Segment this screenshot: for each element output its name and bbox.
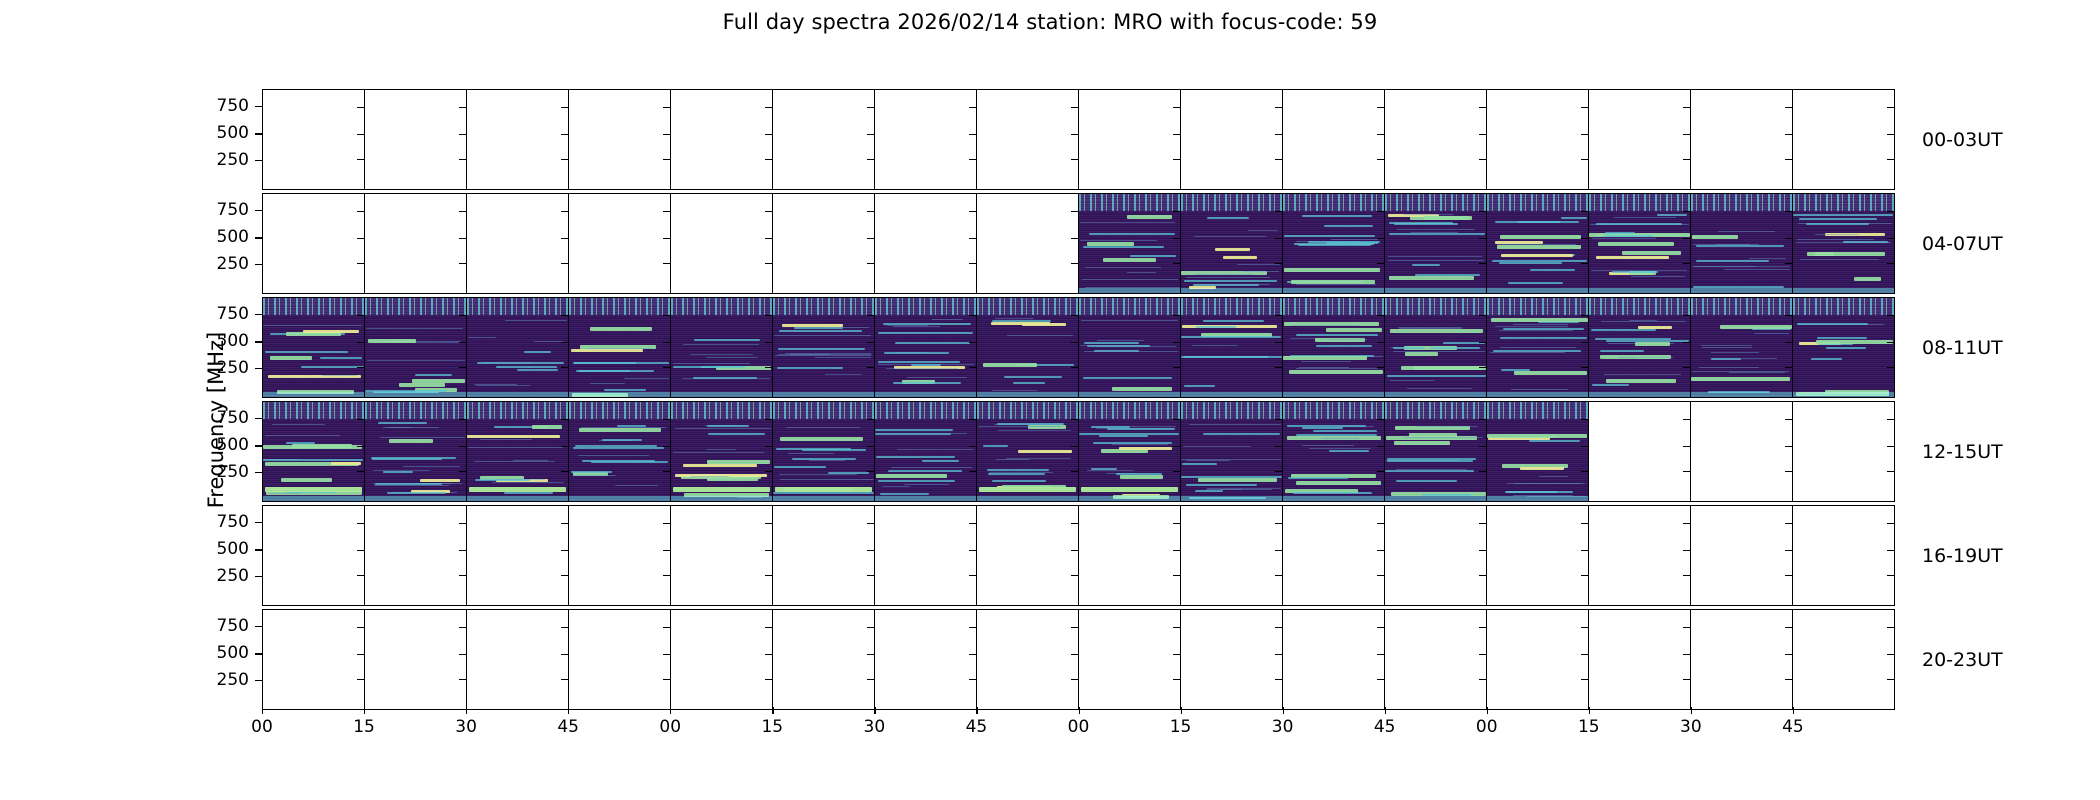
y-axis-tick xyxy=(1173,575,1180,576)
spectrogram-panel[interactable] xyxy=(875,194,977,293)
y-axis-tick xyxy=(1683,575,1690,576)
y-axis-tick xyxy=(969,550,976,551)
x-axis-tick xyxy=(1589,707,1590,714)
x-axis-tick-label: 30 xyxy=(455,717,477,737)
y-axis-tick xyxy=(1683,211,1690,212)
y-axis-tick xyxy=(1377,159,1384,160)
y-axis-tick xyxy=(1785,211,1792,212)
y-axis-tick xyxy=(1581,419,1588,420)
x-axis-tick-label: 00 xyxy=(1476,717,1498,737)
spectrogram-panel[interactable] xyxy=(569,402,671,501)
y-axis-tick xyxy=(663,159,670,160)
y-axis-tick xyxy=(1683,654,1690,655)
spectrogram-image xyxy=(1181,194,1282,293)
spectrogram-panel[interactable] xyxy=(977,402,1079,501)
y-axis-tick xyxy=(1785,134,1792,135)
y-axis-tick-labels: 750500250 xyxy=(194,505,249,606)
y-axis-tick xyxy=(459,263,466,264)
spectrogram-panel[interactable] xyxy=(1385,194,1487,293)
spectrogram-panel[interactable] xyxy=(1487,506,1589,605)
spectrogram-panel[interactable] xyxy=(467,402,569,501)
y-axis-tick xyxy=(1173,679,1180,680)
y-axis-tick xyxy=(1275,134,1282,135)
spectrogram-panel[interactable] xyxy=(1691,298,1793,397)
y-axis-tick xyxy=(663,263,670,264)
spectrogram-panel[interactable] xyxy=(671,402,773,501)
y-axis-tick xyxy=(255,264,262,265)
spectrogram-panel[interactable] xyxy=(1589,298,1691,397)
y-axis-tick xyxy=(1071,471,1078,472)
spectrogram-panel[interactable] xyxy=(467,298,569,397)
spectrogram-image xyxy=(1487,402,1588,501)
spectrogram-panel[interactable] xyxy=(1487,90,1589,189)
y-axis-tick xyxy=(255,472,262,473)
spectrogram-panel[interactable] xyxy=(569,610,671,709)
spectrogram-panel[interactable] xyxy=(467,506,569,605)
y-axis-tick xyxy=(1173,211,1180,212)
spectrogram-panel[interactable] xyxy=(1079,298,1181,397)
y-axis-tick xyxy=(1275,159,1282,160)
spectrogram-panel[interactable] xyxy=(1793,506,1894,605)
y-axis-tick-label: 500 xyxy=(217,123,249,143)
y-axis-tick xyxy=(1581,367,1588,368)
y-axis-tick xyxy=(765,263,772,264)
spectrogram-image xyxy=(1691,298,1792,397)
spectrogram-panel[interactable] xyxy=(1691,402,1793,501)
y-axis-tick xyxy=(663,575,670,576)
y-axis-tick xyxy=(459,627,466,628)
y-axis-tick xyxy=(765,342,772,343)
y-axis-tick xyxy=(867,211,874,212)
y-axis-tick xyxy=(867,134,874,135)
spectrogram-panel[interactable] xyxy=(1181,298,1283,397)
y-axis-tick xyxy=(867,419,874,420)
x-axis-tick xyxy=(1793,707,1794,714)
y-axis-tick xyxy=(1683,159,1690,160)
y-axis-tick xyxy=(1479,471,1486,472)
row-axes-frame xyxy=(262,505,1895,606)
spectrogram-panel[interactable] xyxy=(1385,506,1487,605)
y-axis-tick xyxy=(1785,471,1792,472)
spectrogram-panel[interactable] xyxy=(1079,194,1181,293)
y-axis-tick xyxy=(255,418,262,419)
spectrogram-panel[interactable] xyxy=(467,194,569,293)
y-axis-tick xyxy=(561,523,568,524)
y-axis-tick xyxy=(1275,523,1282,524)
y-axis-tick xyxy=(1683,263,1690,264)
y-axis-tick xyxy=(1887,471,1894,472)
y-axis-tick xyxy=(561,654,568,655)
spectrogram-panel[interactable] xyxy=(1181,90,1283,189)
y-axis-tick xyxy=(1173,107,1180,108)
spectrogram-image xyxy=(875,298,976,397)
x-axis-tick xyxy=(1283,707,1284,714)
y-axis-tick xyxy=(867,523,874,524)
spectrogram-panel[interactable] xyxy=(1589,402,1691,501)
spectrogram-panel[interactable] xyxy=(1793,610,1894,709)
y-axis-tick xyxy=(255,237,262,238)
spectrogram-panel[interactable] xyxy=(977,610,1079,709)
spectrogram-panel[interactable] xyxy=(773,506,875,605)
spectrogram-row xyxy=(262,89,1895,190)
y-axis-tick xyxy=(1785,367,1792,368)
y-axis-tick xyxy=(1071,211,1078,212)
y-axis-tick xyxy=(1887,159,1894,160)
x-axis-tick xyxy=(1385,707,1386,714)
spectrogram-panel[interactable] xyxy=(671,506,773,605)
y-axis-tick-label: 500 xyxy=(217,331,249,351)
y-axis-tick xyxy=(1683,315,1690,316)
y-axis-tick xyxy=(357,367,364,368)
y-axis-tick xyxy=(867,238,874,239)
y-axis-tick xyxy=(663,134,670,135)
y-axis-tick xyxy=(1071,159,1078,160)
spectrogram-panel[interactable] xyxy=(1079,506,1181,605)
spectrogram-panel[interactable] xyxy=(1793,90,1894,189)
y-axis-tick xyxy=(1377,238,1384,239)
y-axis-tick xyxy=(1479,419,1486,420)
spectrogram-panel[interactable] xyxy=(1181,194,1283,293)
y-axis-tick xyxy=(1479,550,1486,551)
spectrogram-panel[interactable] xyxy=(1283,90,1385,189)
y-axis-tick xyxy=(1173,471,1180,472)
spectrogram-panel[interactable] xyxy=(365,610,467,709)
row-axes-frame xyxy=(262,297,1895,398)
spectrogram-image xyxy=(365,402,466,501)
y-axis-tick xyxy=(561,471,568,472)
y-axis-tick xyxy=(459,523,466,524)
spectrogram-panel[interactable] xyxy=(263,402,365,501)
spectrogram-panel[interactable] xyxy=(467,610,569,709)
spectrogram-panel[interactable] xyxy=(569,90,671,189)
spectrogram-panel[interactable] xyxy=(569,298,671,397)
y-axis-tick xyxy=(1377,550,1384,551)
y-axis-tick xyxy=(867,367,874,368)
spectrogram-panel[interactable] xyxy=(671,90,773,189)
spectrogram-panel[interactable] xyxy=(1691,194,1793,293)
y-axis-tick xyxy=(357,446,364,447)
y-axis-tick xyxy=(1785,679,1792,680)
x-axis-tick xyxy=(1181,707,1182,714)
y-axis-tick xyxy=(255,368,262,369)
spectrogram-panel[interactable] xyxy=(977,506,1079,605)
y-axis-tick xyxy=(561,107,568,108)
spectrogram-panel[interactable] xyxy=(1589,90,1691,189)
spectrogram-image xyxy=(1691,194,1792,293)
y-axis-tick xyxy=(765,550,772,551)
y-axis-tick xyxy=(663,238,670,239)
y-axis-tick xyxy=(1479,211,1486,212)
y-axis-tick xyxy=(357,575,364,576)
spectrogram-panel[interactable] xyxy=(671,610,773,709)
spectrogram-panel[interactable] xyxy=(875,610,977,709)
y-axis-tick xyxy=(1581,159,1588,160)
y-axis-tick xyxy=(1581,446,1588,447)
y-axis-tick xyxy=(561,575,568,576)
y-axis-tick xyxy=(357,679,364,680)
spectrogram-panel[interactable] xyxy=(671,298,773,397)
y-axis-tick xyxy=(357,263,364,264)
y-axis-tick xyxy=(561,159,568,160)
y-axis-tick xyxy=(1683,627,1690,628)
y-axis-tick xyxy=(1071,523,1078,524)
spectrogram-panel[interactable] xyxy=(773,610,875,709)
y-axis-tick xyxy=(765,419,772,420)
spectrogram-image xyxy=(977,298,1078,397)
y-axis-tick xyxy=(1071,679,1078,680)
y-axis-tick xyxy=(1683,238,1690,239)
y-axis-tick xyxy=(1479,263,1486,264)
y-axis-tick xyxy=(1479,134,1486,135)
y-axis-tick xyxy=(969,679,976,680)
x-axis-tick xyxy=(568,707,569,714)
y-axis-tick xyxy=(1377,342,1384,343)
y-axis-tick xyxy=(1581,315,1588,316)
spectrogram-panel[interactable] xyxy=(671,194,773,293)
spectrogram-panel[interactable] xyxy=(875,298,977,397)
spectrogram-image xyxy=(1079,298,1180,397)
spectrogram-image xyxy=(467,298,568,397)
spectrogram-panel[interactable] xyxy=(1283,402,1385,501)
spectrogram-panel[interactable] xyxy=(467,90,569,189)
y-axis-tick xyxy=(1887,367,1894,368)
spectrogram-panel[interactable] xyxy=(1793,298,1894,397)
x-axis-tick xyxy=(1487,707,1488,714)
y-axis-tick xyxy=(867,679,874,680)
y-axis-tick xyxy=(561,211,568,212)
spectrogram-panel[interactable] xyxy=(1793,194,1894,293)
y-axis-tick xyxy=(1071,342,1078,343)
spectrogram-panel[interactable] xyxy=(875,402,977,501)
row-axes-frame xyxy=(262,193,1895,294)
y-axis-tick xyxy=(1887,342,1894,343)
spectrogram-panel[interactable] xyxy=(1181,402,1283,501)
y-axis-tick xyxy=(561,446,568,447)
spectrogram-panel[interactable] xyxy=(1589,506,1691,605)
y-axis-tick xyxy=(765,211,772,212)
y-axis-tick-label: 500 xyxy=(217,539,249,559)
y-axis-tick xyxy=(357,627,364,628)
spectrogram-panel[interactable] xyxy=(263,194,365,293)
y-axis-tick xyxy=(1377,134,1384,135)
spectrogram-panel[interactable] xyxy=(1079,90,1181,189)
y-axis-tick xyxy=(1377,315,1384,316)
spectrogram-panel[interactable] xyxy=(977,298,1079,397)
y-axis-tick xyxy=(459,679,466,680)
y-axis-tick xyxy=(1377,471,1384,472)
spectrogram-panel[interactable] xyxy=(263,610,365,709)
y-axis-tick xyxy=(1479,523,1486,524)
y-axis-tick xyxy=(561,627,568,628)
y-axis-tick xyxy=(1887,627,1894,628)
spectrogram-panel[interactable] xyxy=(1283,610,1385,709)
y-axis-tick xyxy=(1071,575,1078,576)
spectrogram-panel[interactable] xyxy=(1385,402,1487,501)
spectrogram-panel[interactable] xyxy=(365,90,467,189)
y-axis-tick-label: 500 xyxy=(217,435,249,455)
spectrogram-row xyxy=(262,609,1895,710)
y-axis-tick xyxy=(1173,446,1180,447)
spectrogram-panel[interactable] xyxy=(365,194,467,293)
y-axis-tick-label: 750 xyxy=(217,304,249,324)
spectrogram-panel[interactable] xyxy=(365,402,467,501)
spectrogram-panel[interactable] xyxy=(569,506,671,605)
spectrogram-panel[interactable] xyxy=(1181,506,1283,605)
spectrogram-panel[interactable] xyxy=(1079,402,1181,501)
y-axis-tick xyxy=(1173,159,1180,160)
y-axis-tick xyxy=(1683,419,1690,420)
y-axis-tick xyxy=(561,238,568,239)
y-axis-tick xyxy=(1479,654,1486,655)
y-axis-tick xyxy=(1479,107,1486,108)
y-axis-tick xyxy=(561,367,568,368)
y-axis-tick xyxy=(1071,446,1078,447)
spectrogram-panel[interactable] xyxy=(263,90,365,189)
spectrogram-panel[interactable] xyxy=(1181,610,1283,709)
spectrogram-panel[interactable] xyxy=(1793,402,1894,501)
y-axis-tick xyxy=(1785,107,1792,108)
y-axis-tick xyxy=(1173,315,1180,316)
y-axis-tick xyxy=(1887,211,1894,212)
y-axis-tick xyxy=(1173,419,1180,420)
y-axis-tick xyxy=(357,550,364,551)
row-label-04-07ut: 04-07UT xyxy=(1922,233,2003,255)
y-axis-tick xyxy=(1479,446,1486,447)
spectrogram-panel[interactable] xyxy=(773,298,875,397)
y-axis-tick xyxy=(459,159,466,160)
y-axis-tick xyxy=(255,445,262,446)
spectrogram-panel[interactable] xyxy=(365,506,467,605)
y-axis-tick xyxy=(663,654,670,655)
spectrogram-image xyxy=(263,402,364,501)
y-axis-tick xyxy=(1275,575,1282,576)
spectrogram-image xyxy=(977,402,1078,501)
y-axis-tick xyxy=(357,471,364,472)
x-axis-tick xyxy=(874,707,875,714)
y-axis-tick xyxy=(1785,523,1792,524)
y-axis-tick xyxy=(765,654,772,655)
y-axis-tick xyxy=(1887,575,1894,576)
x-axis-tick-label: 45 xyxy=(966,717,988,737)
spectrogram-panel[interactable] xyxy=(1589,610,1691,709)
spectrogram-panel[interactable] xyxy=(977,90,1079,189)
spectrogram-panel[interactable] xyxy=(1691,506,1793,605)
spectrogram-panel[interactable] xyxy=(1283,506,1385,605)
y-axis-tick xyxy=(1275,471,1282,472)
spectrogram-image xyxy=(1181,402,1282,501)
row-label-20-23ut: 20-23UT xyxy=(1922,649,2003,671)
y-axis-tick xyxy=(1581,107,1588,108)
y-axis-tick-label: 250 xyxy=(217,358,249,378)
x-axis-tick-label: 15 xyxy=(353,717,375,737)
y-axis-tick xyxy=(1887,315,1894,316)
y-axis-tick xyxy=(1071,419,1078,420)
y-axis-tick xyxy=(1683,679,1690,680)
y-axis-tick xyxy=(969,654,976,655)
y-axis-tick xyxy=(1581,523,1588,524)
spectrogram-row xyxy=(262,193,1895,294)
y-axis-tick xyxy=(1887,446,1894,447)
y-axis-tick xyxy=(1479,367,1486,368)
y-axis-tick-label: 750 xyxy=(217,616,249,636)
y-axis-tick xyxy=(1275,238,1282,239)
x-axis-tick-label: 15 xyxy=(761,717,783,737)
spectrogram-panel[interactable] xyxy=(773,194,875,293)
spectrogram-panel[interactable] xyxy=(1691,90,1793,189)
spectrogram-panel[interactable] xyxy=(1283,298,1385,397)
y-axis-tick xyxy=(1275,211,1282,212)
y-axis-tick-label: 500 xyxy=(217,227,249,247)
y-axis-tick xyxy=(1173,523,1180,524)
spectrogram-panel[interactable] xyxy=(1385,298,1487,397)
spectrogram-panel[interactable] xyxy=(1385,610,1487,709)
y-axis-tick xyxy=(1479,238,1486,239)
y-axis-tick xyxy=(1071,134,1078,135)
y-axis-tick xyxy=(1173,263,1180,264)
y-axis-tick xyxy=(765,238,772,239)
y-axis-tick xyxy=(765,107,772,108)
y-axis-tick xyxy=(1683,342,1690,343)
y-axis-tick xyxy=(255,210,262,211)
x-axis-tick-label: 00 xyxy=(251,717,273,737)
y-axis-tick xyxy=(1173,550,1180,551)
spectrogram-panel[interactable] xyxy=(263,298,365,397)
spectrogram-panel[interactable] xyxy=(875,90,977,189)
y-axis-tick xyxy=(1173,367,1180,368)
spectrogram-panel[interactable] xyxy=(1487,402,1589,501)
page-title: Full day spectra 2026/02/14 station: MRO… xyxy=(0,10,2100,34)
spectrogram-panel[interactable] xyxy=(263,506,365,605)
y-axis-tick xyxy=(969,107,976,108)
spectrogram-panel[interactable] xyxy=(1079,610,1181,709)
spectrogram-panel[interactable] xyxy=(569,194,671,293)
y-axis-tick xyxy=(561,342,568,343)
y-axis-tick xyxy=(663,107,670,108)
spectrogram-panel[interactable] xyxy=(1691,610,1793,709)
y-axis-tick xyxy=(357,342,364,343)
y-axis-tick xyxy=(561,263,568,264)
spectrogram-panel[interactable] xyxy=(773,90,875,189)
spectrogram-panel[interactable] xyxy=(1487,298,1589,397)
y-axis-tick xyxy=(1887,550,1894,551)
y-axis-tick xyxy=(561,315,568,316)
y-axis-tick xyxy=(255,653,262,654)
y-axis-tick xyxy=(1377,627,1384,628)
y-axis-tick xyxy=(867,627,874,628)
y-axis-tick xyxy=(1275,107,1282,108)
x-axis: 00153045001530450015304500153045 xyxy=(262,707,1895,747)
spectrogram-panel[interactable] xyxy=(365,298,467,397)
y-axis-tick xyxy=(1887,107,1894,108)
x-axis-tick-label: 30 xyxy=(1680,717,1702,737)
y-axis-tick-labels: 750500250 xyxy=(194,297,249,398)
y-axis-tick-labels: 750500250 xyxy=(194,609,249,710)
spectrogram-panel[interactable] xyxy=(1589,194,1691,293)
spectrogram-panel[interactable] xyxy=(1487,610,1589,709)
spectrogram-panel[interactable] xyxy=(875,506,977,605)
spectrogram-panel[interactable] xyxy=(977,194,1079,293)
x-axis-tick-label: 15 xyxy=(1170,717,1192,737)
y-axis-tick xyxy=(1071,654,1078,655)
spectrogram-panel[interactable] xyxy=(1385,90,1487,189)
spectrogram-panel[interactable] xyxy=(773,402,875,501)
spectrogram-image xyxy=(1079,194,1180,293)
y-axis-tick xyxy=(1887,654,1894,655)
spectrogram-image xyxy=(1385,194,1486,293)
y-axis-tick xyxy=(1581,263,1588,264)
spectrogram-panel[interactable] xyxy=(1283,194,1385,293)
spectrogram-panel[interactable] xyxy=(1487,194,1589,293)
